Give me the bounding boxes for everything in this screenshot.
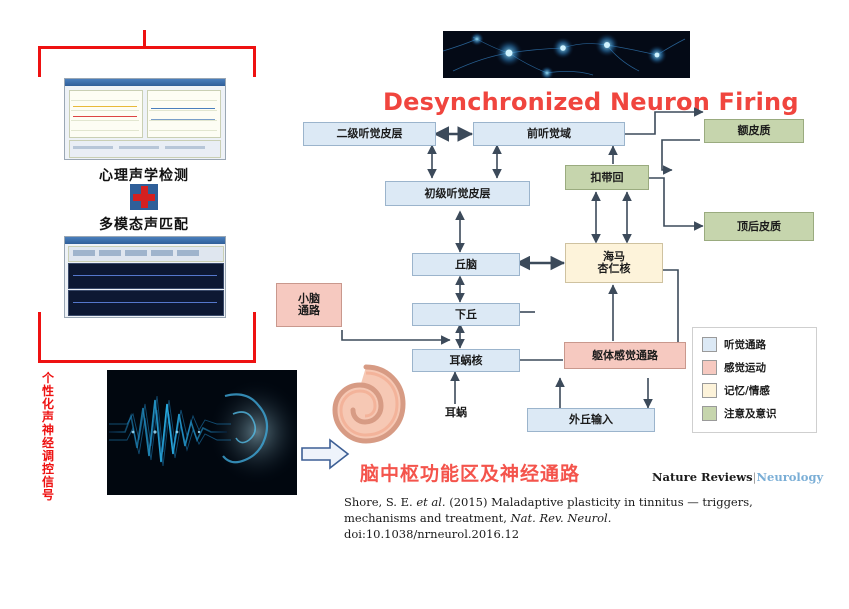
- citation-line-3: doi:10.1038/nrneurol.2016.12: [344, 526, 764, 542]
- neuron-banner-image: [443, 31, 690, 78]
- journal-branding: Nature Reviews|Neurology: [652, 470, 823, 484]
- node-label: 额皮质: [738, 125, 771, 137]
- node-label: 丘脑: [455, 259, 477, 271]
- node-thalamus[interactable]: 丘脑: [412, 253, 520, 276]
- cochlea-illustration: [325, 363, 407, 445]
- node-label: 顶后皮质: [737, 221, 781, 233]
- node-extra-collicular-input[interactable]: 外丘输入: [527, 408, 655, 432]
- citation-title-cont: mechanisms and treatment,: [344, 511, 511, 525]
- legend-swatch-memory-emotion: [702, 383, 717, 398]
- node-hippocampus-amygdala[interactable]: 海马 杏仁核: [565, 243, 663, 283]
- legend-item-sensorimotor: 感觉运动: [702, 359, 766, 375]
- page-title: Desynchronized Neuron Firing: [383, 88, 799, 116]
- node-inferior-colliculus[interactable]: 下丘: [412, 303, 520, 326]
- node-label: 下丘: [455, 309, 477, 321]
- thumb2-titlebar: [65, 237, 225, 244]
- node-secondary-auditory-cortex[interactable]: 二级听觉皮层: [303, 122, 436, 146]
- plus-icon: [130, 184, 158, 210]
- vertical-red-annotation: 个 性 化 声 神 经 调 控 信 号: [40, 372, 56, 502]
- ear-waveform-image: [107, 370, 297, 495]
- node-label-line2: 杏仁核: [598, 263, 631, 275]
- node-label: 初级听觉皮层: [425, 188, 491, 200]
- citation-title: (2015) Maladaptive plasticity in tinnitu…: [446, 495, 753, 509]
- legend-label: 听觉通路: [724, 337, 766, 352]
- neuron-banner-art: [443, 31, 690, 78]
- node-label-line2: 通路: [298, 305, 320, 317]
- red-bracket-stem: [143, 30, 146, 48]
- node-anterior-auditory-field[interactable]: 前听觉域: [473, 122, 625, 146]
- node-cochlear-nucleus[interactable]: 耳蜗核: [412, 349, 520, 372]
- legend-label: 记忆/情感: [724, 383, 770, 398]
- node-label: 前听觉域: [527, 128, 571, 140]
- ear-waveform-art: [107, 370, 297, 495]
- citation-author: Shore, S. E.: [344, 495, 416, 509]
- node-label: 外丘输入: [569, 414, 613, 426]
- legend-panel: 听觉通路 感觉运动 记忆/情感 注意及意识: [692, 327, 817, 433]
- left-label-multimodal: 多模态声匹配: [40, 214, 248, 234]
- journal-name: Nature Reviews: [652, 470, 753, 484]
- node-label: 二级听觉皮层: [337, 128, 403, 140]
- node-frontal-cortex[interactable]: 额皮质: [704, 119, 804, 143]
- citation-etal: et al.: [416, 495, 445, 509]
- node-cerebellum-pathway[interactable]: 小脑 通路: [276, 283, 342, 327]
- slide-canvas: 心理声学检测 多模态声匹配 个 性 化 声 神 经 调 控 信 号: [0, 0, 849, 609]
- left-label-psychoacoustic: 心理声学检测: [40, 165, 248, 185]
- node-cingulate-gyrus[interactable]: 扣带回: [565, 165, 649, 190]
- thumb2-body: [65, 244, 225, 317]
- thumb-body: [65, 86, 225, 159]
- node-primary-auditory-cortex[interactable]: 初级听觉皮层: [385, 181, 530, 206]
- legend-label: 感觉运动: [724, 360, 766, 375]
- node-label: 扣带回: [591, 172, 624, 184]
- node-label: 耳蜗核: [450, 355, 483, 367]
- legend-item-memory-emotion: 记忆/情感: [702, 382, 770, 398]
- node-label: 耳蜗: [445, 407, 467, 419]
- legend-item-auditory: 听觉通路: [702, 336, 766, 352]
- citation-journal: Nat. Rev. Neurol.: [511, 511, 612, 525]
- red-bracket-bottom: [38, 312, 256, 363]
- legend-swatch-attention: [702, 406, 717, 421]
- psychoacoustic-test-screenshot[interactable]: [64, 78, 226, 160]
- node-label: 躯体感觉通路: [592, 350, 658, 362]
- page-subtitle: 脑中枢功能区及神经通路: [360, 459, 580, 486]
- citation-line-2: mechanisms and treatment, Nat. Rev. Neur…: [344, 510, 764, 526]
- legend-item-attention-consciousness: 注意及意识: [702, 405, 777, 421]
- journal-subject: Neurology: [757, 470, 824, 484]
- legend-swatch-auditory: [702, 337, 717, 352]
- node-posterior-parietal-cortex[interactable]: 顶后皮质: [704, 212, 814, 241]
- node-cochlea-label: 耳蜗: [430, 404, 482, 422]
- citation-line-1: Shore, S. E. et al. (2015) Maladaptive p…: [344, 494, 764, 510]
- legend-swatch-sensorimotor: [702, 360, 717, 375]
- multimodal-sound-matching-screenshot[interactable]: [64, 236, 226, 318]
- citation-block: Shore, S. E. et al. (2015) Maladaptive p…: [344, 494, 764, 542]
- node-somatosensory-pathway[interactable]: 躯体感觉通路: [564, 342, 686, 369]
- legend-label: 注意及意识: [724, 406, 777, 421]
- red-bracket-top: [38, 46, 256, 77]
- thumb-titlebar: [65, 79, 225, 86]
